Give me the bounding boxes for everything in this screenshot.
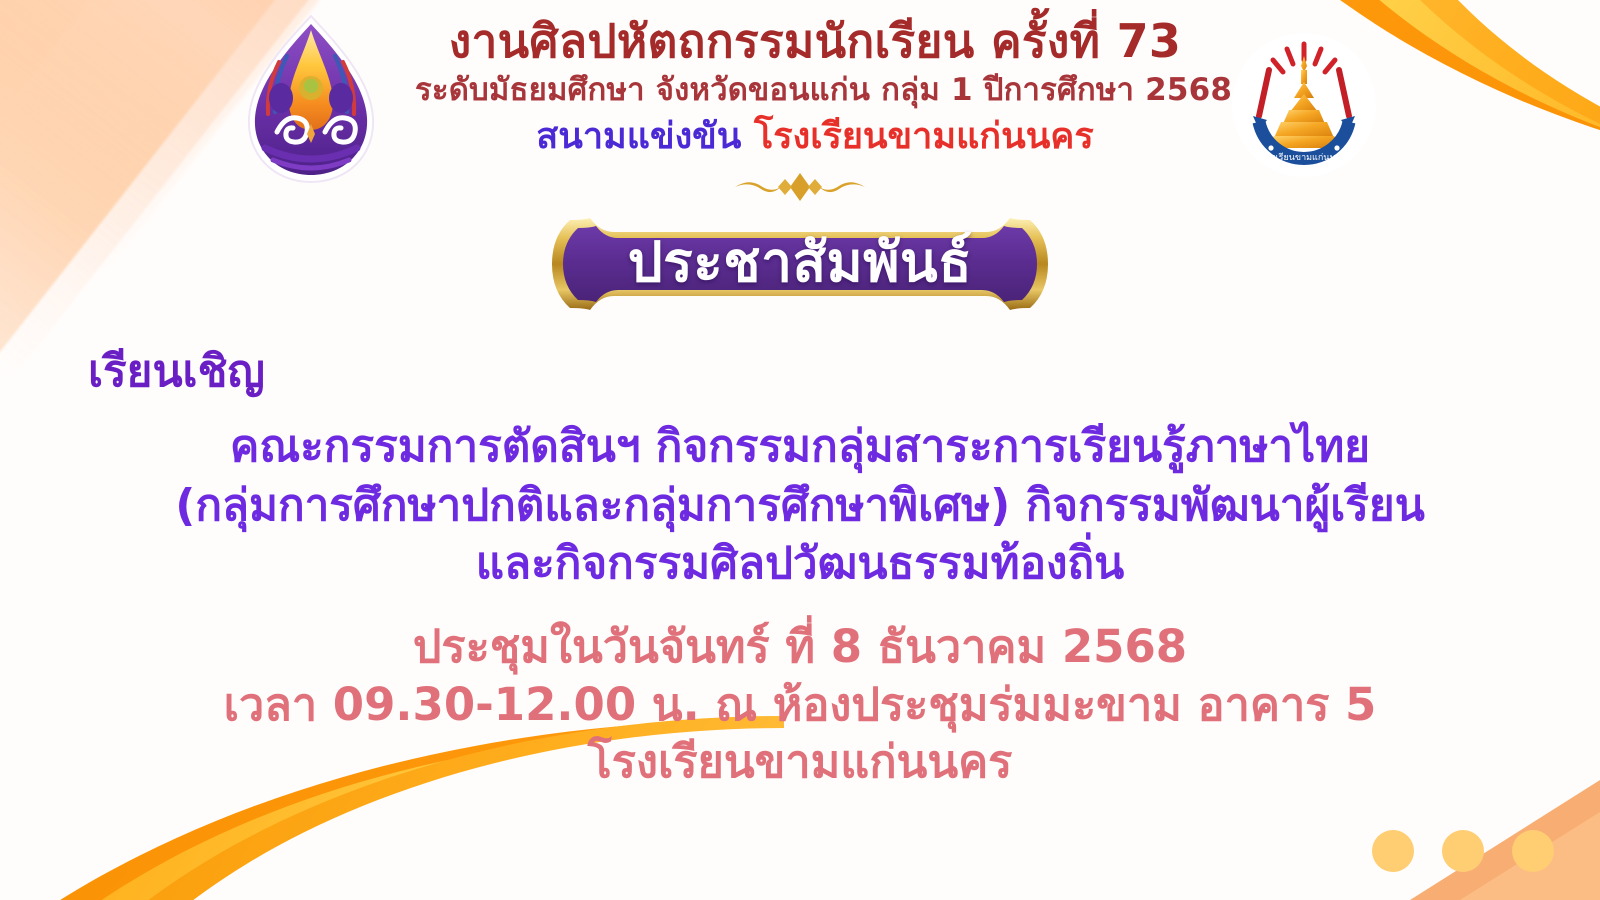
- meeting-details: ประชุมในวันจันทร์ ที่ 8 ธันวาคม 2568 เวล…: [0, 618, 1600, 791]
- decorative-dot: [1512, 830, 1554, 872]
- venue-label: สนามแข่งขัน: [536, 116, 741, 157]
- school-ribbon-text: โรงเรียนขามแก่นนคร: [1262, 152, 1347, 163]
- meeting-school-line: โรงเรียนขามแก่นนคร: [0, 733, 1600, 791]
- decorative-dot: [1372, 830, 1414, 872]
- bottom-right-triangle-light: [1460, 812, 1600, 900]
- meeting-time-location-line: เวลา 09.30-12.00 น. ณ ห้องประชุมร่มมะขาม…: [0, 676, 1600, 734]
- bottom-right-triangle: [1410, 780, 1600, 900]
- venue-line: สนามแข่งขัน โรงเรียนขามแก่นนคร: [415, 114, 1215, 159]
- khamkaennakhon-school-logo-icon: โรงเรียนขามแก่นนคร: [1229, 30, 1379, 180]
- body-paragraph: คณะกรรมการตัดสินฯ กิจกรรมกลุ่มสาระการเรี…: [0, 418, 1600, 594]
- venue-name: โรงเรียนขามแก่นนคร: [754, 116, 1094, 157]
- banner-label: ประชาสัมพันธ์: [526, 216, 1074, 312]
- body-line: คณะกรรมการตัดสินฯ กิจกรรมกลุ่มสาระการเรี…: [0, 418, 1600, 477]
- bottom-right-dots: [1372, 830, 1554, 872]
- announcement-poster: งานศิลปหัตถกรรมนักเรียน ครั้งที่ 73 ระดั…: [0, 0, 1600, 900]
- header-text-block: งานศิลปหัตถกรรมนักเรียน ครั้งที่ 73 ระดั…: [415, 8, 1215, 159]
- body-line: (กลุ่มการศึกษาปกติและกลุ่มการศึกษาพิเศษ)…: [0, 477, 1600, 536]
- meeting-date-line: ประชุมในวันจันทร์ ที่ 8 ธันวาคม 2568: [0, 618, 1600, 676]
- poster-header: งานศิลปหัตถกรรมนักเรียน ครั้งที่ 73 ระดั…: [0, 8, 1600, 190]
- festival-title: งานศิลปหัตถกรรมนักเรียน ครั้งที่ 73: [415, 16, 1215, 68]
- decorative-dot: [1442, 830, 1484, 872]
- gold-divider-ornament: [520, 170, 1080, 204]
- festival-emblem-73-icon: [221, 10, 401, 190]
- festival-subtitle: ระดับมัธยมศึกษา จังหวัดขอนแก่น กลุ่ม 1 ป…: [415, 70, 1215, 110]
- salutation-text: เรียนเชิญ: [88, 336, 265, 406]
- body-line: และกิจกรรมศิลปวัฒนธรรมท้องถิ่น: [0, 535, 1600, 594]
- announcement-banner: ประชาสัมพันธ์: [526, 216, 1074, 312]
